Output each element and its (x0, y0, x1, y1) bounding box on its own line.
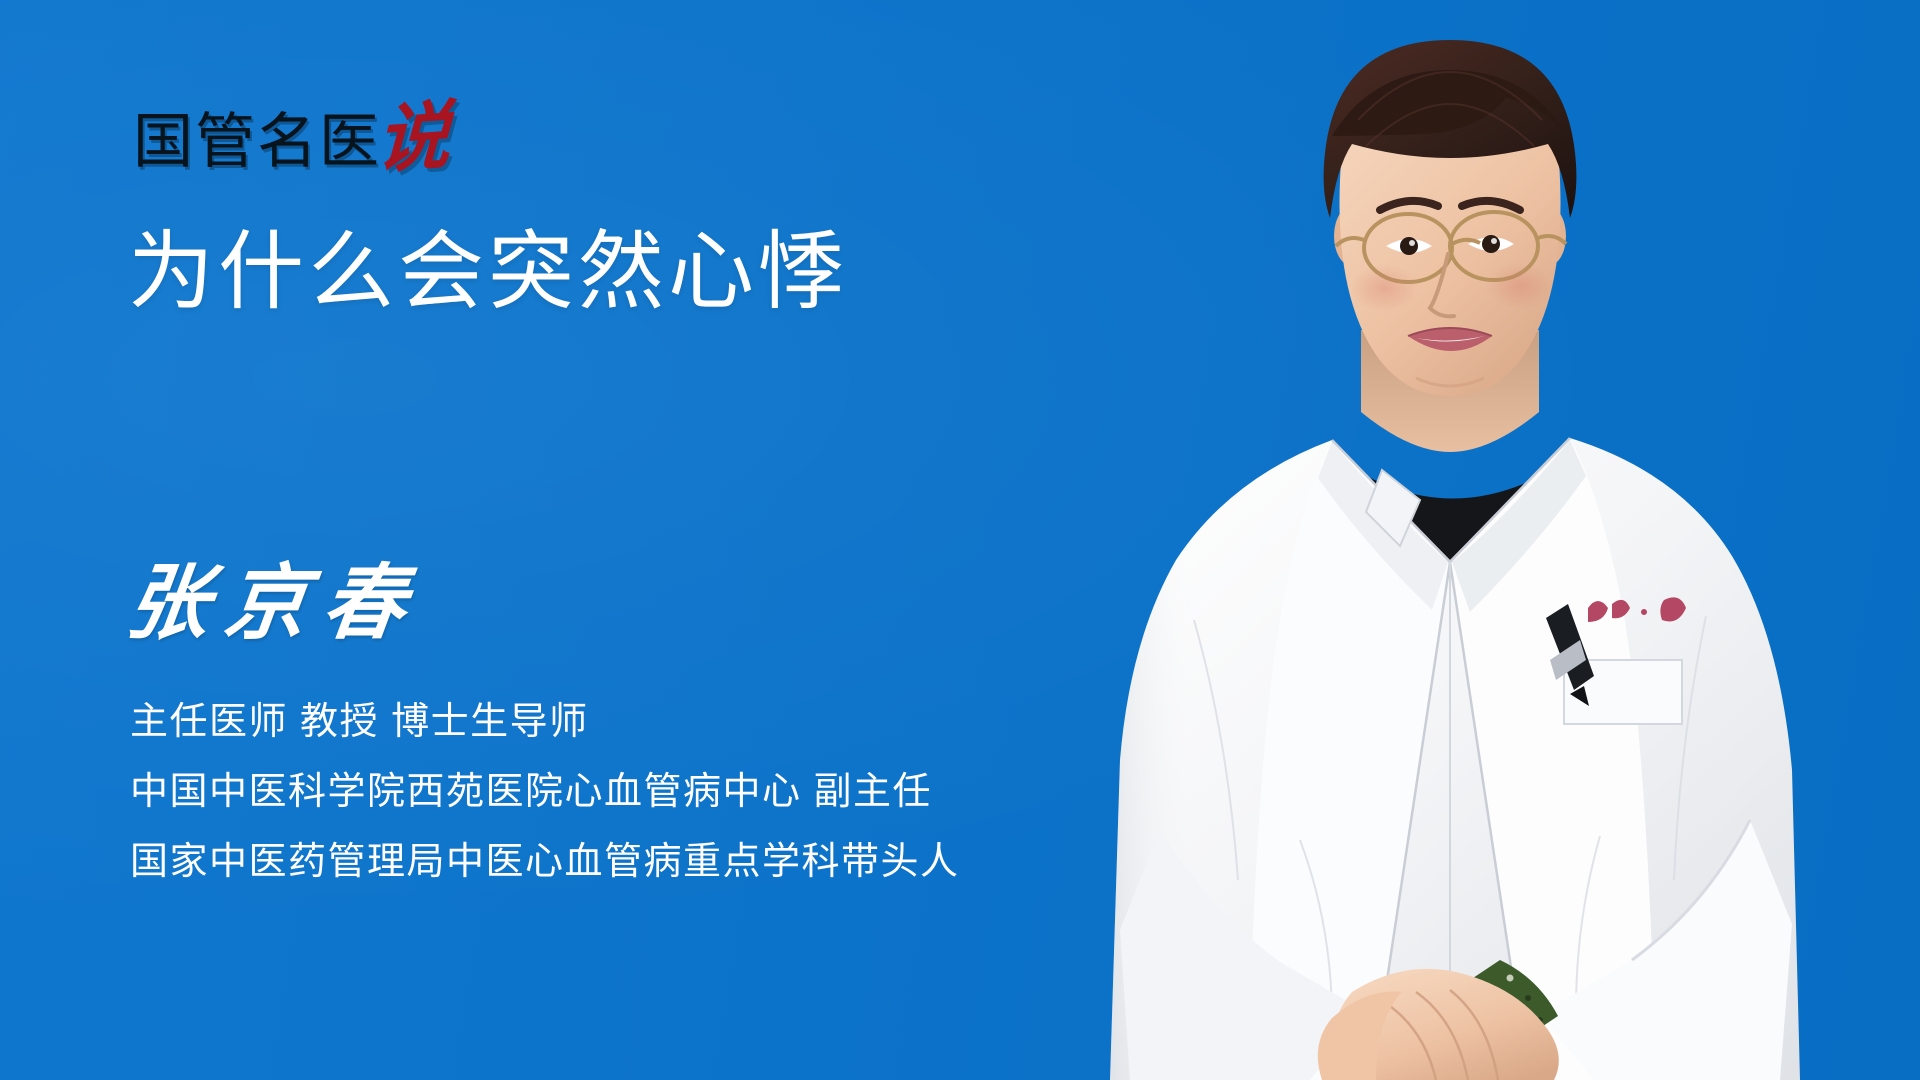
program-logo-accent-text: 说 (375, 102, 451, 176)
slide-canvas: 国管名医 说 为什么会突然心悸 张京春 主任医师 教授 博士生导师 中国中医科学… (0, 0, 1920, 1080)
speaker-credentials: 主任医师 教授 博士生导师 中国中医科学院西苑医院心血管病中心 副主任 国家中医… (130, 700, 960, 884)
speaker-portrait (980, 0, 1920, 1080)
credential-line: 国家中医药管理局中医心血管病重点学科带头人 (130, 840, 960, 885)
credential-line: 主任医师 教授 博士生导师 (130, 700, 960, 745)
portrait-illustration (980, 0, 1920, 1080)
left-content-column: 国管名医 说 为什么会突然心悸 张京春 主任医师 教授 博士生导师 中国中医科学… (0, 0, 1120, 1080)
headline-title: 为什么会突然心悸 (128, 227, 848, 318)
program-logo: 国管名医 说 (133, 96, 449, 172)
speaker-name: 张京春 (122, 563, 426, 645)
program-logo-main-text: 国管名医 (133, 112, 381, 172)
credential-line: 中国中医科学院西苑医院心血管病中心 副主任 (130, 770, 960, 815)
coat-chest-pocket (1546, 597, 1686, 724)
